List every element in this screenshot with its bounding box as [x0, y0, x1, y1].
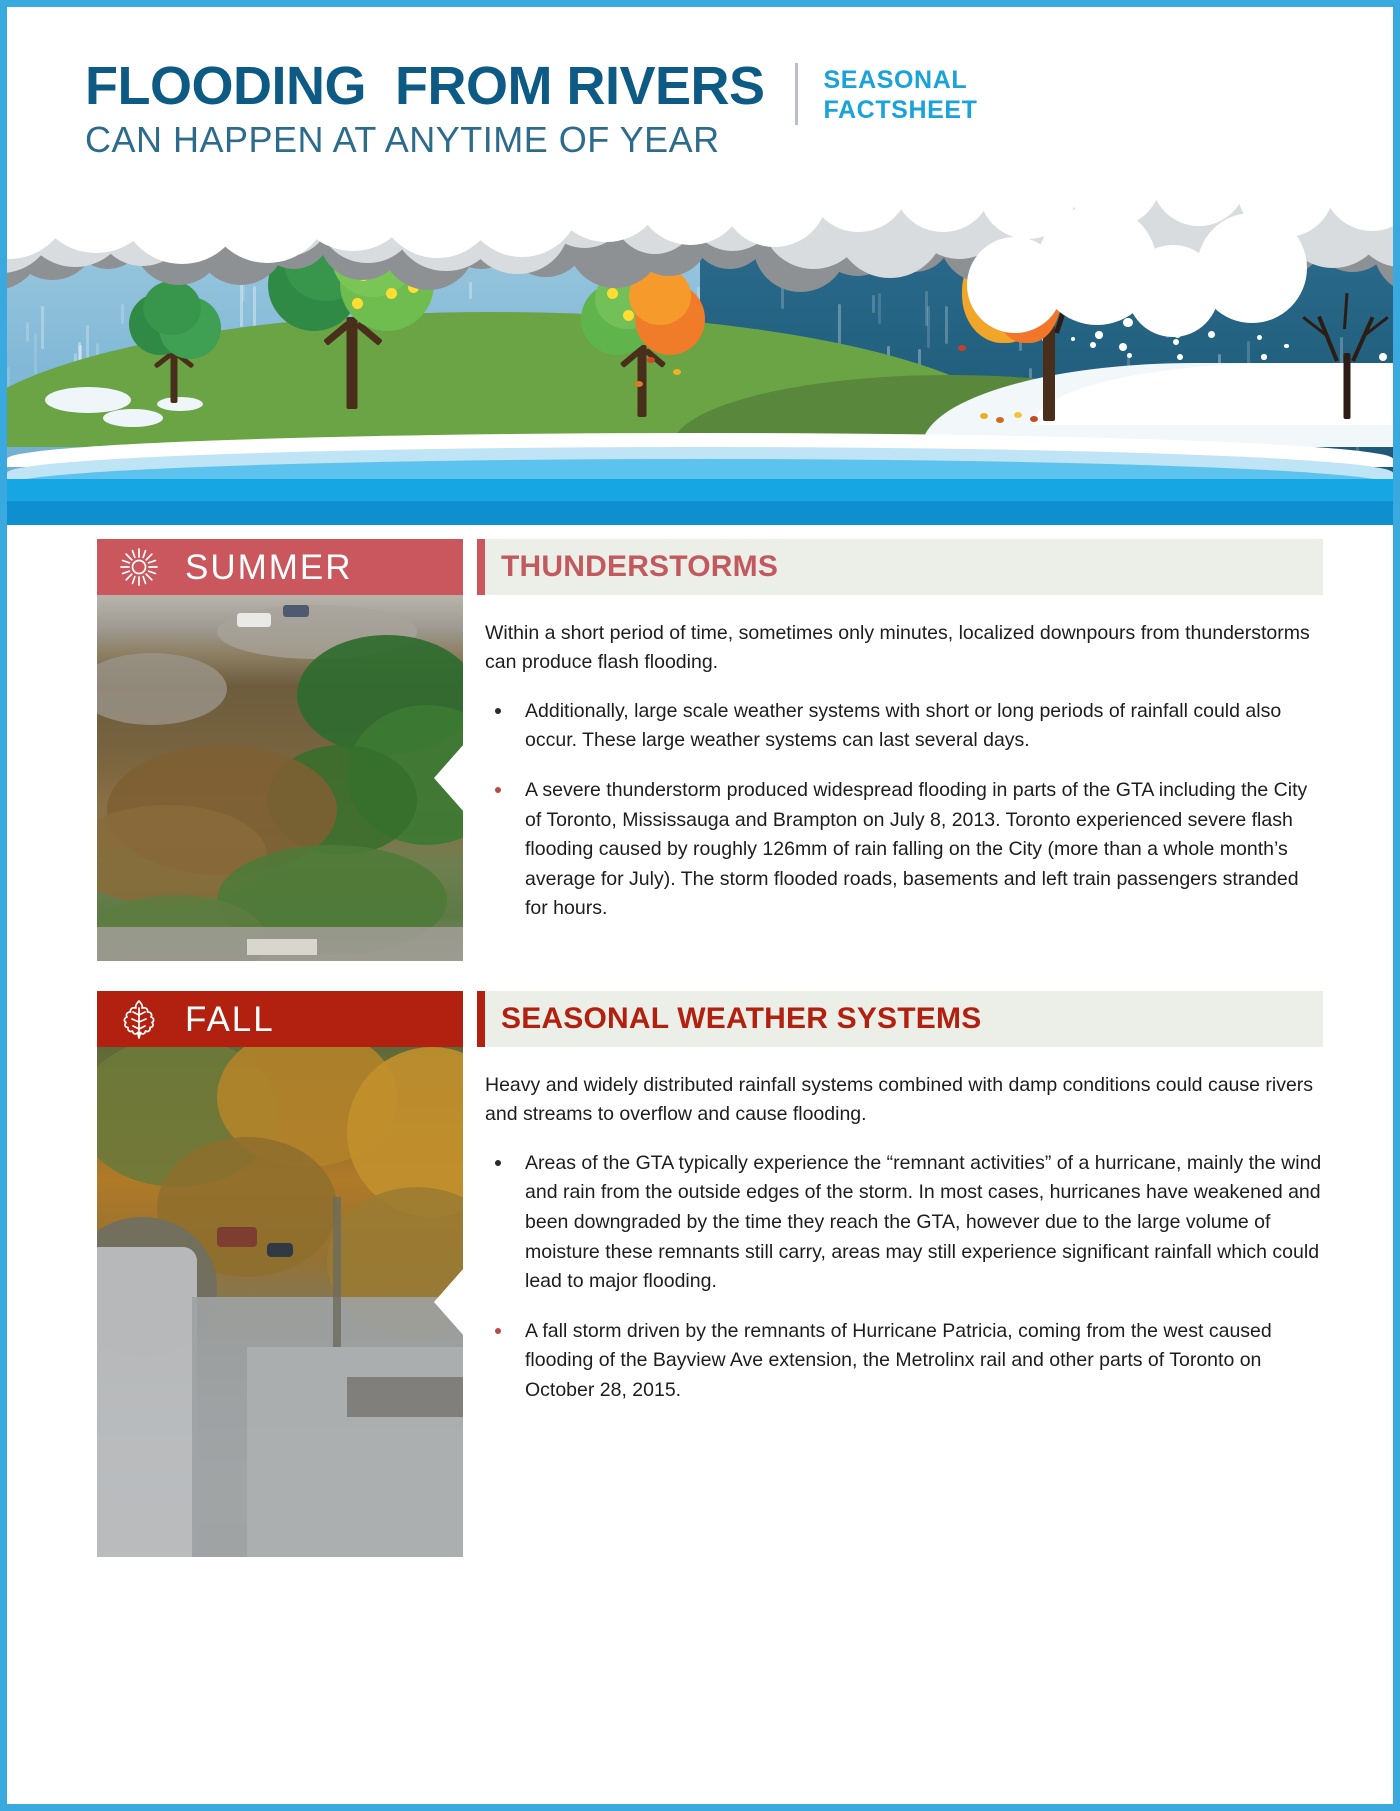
section-fall: FALL: [7, 991, 1393, 1571]
blossom: [352, 298, 363, 309]
bare-branch: [1317, 316, 1339, 362]
bullet-text: Areas of the GTA typically experience th…: [525, 1152, 1321, 1293]
tree-trunk: [1043, 325, 1055, 421]
photo-detail: [283, 605, 309, 617]
blossom: [607, 288, 618, 299]
season-label-fall: FALL: [185, 1002, 275, 1037]
bullet-marker: [495, 1160, 501, 1166]
bullet-text: Additionally, large scale weather system…: [525, 700, 1281, 752]
photo-summer-flood: [97, 595, 463, 961]
ice-patch-2: [103, 409, 163, 427]
photo-detail: [97, 1247, 197, 1557]
photo-fall-road: [97, 1047, 463, 1557]
intro-summer: Within a short period of time, sometimes…: [485, 619, 1323, 677]
heading-bar-fall: SEASONAL WEATHER SYSTEMS: [477, 991, 1323, 1047]
photo-notch: [434, 1268, 464, 1336]
title-row: FLOODING FROM RIVERS CAN HAPPEN AT ANYTI…: [85, 59, 1393, 158]
falling-leaf: [635, 381, 643, 387]
season-banner-summer: SUMMER: [97, 539, 463, 595]
photo-detail: [217, 1227, 257, 1247]
page-header: FLOODING FROM RIVERS CAN HAPPEN AT ANYTI…: [7, 7, 1393, 167]
bullets-summer: Additionally, large scale weather system…: [485, 697, 1323, 924]
bullet-item: A fall storm driven by the remnants of H…: [485, 1317, 1323, 1406]
tree-winter-bare: [1287, 269, 1393, 419]
tree-trunk: [1344, 353, 1351, 419]
bare-branch: [1351, 316, 1374, 361]
photo-detail: [237, 613, 271, 627]
factsheet-tag-line2: FACTSHEET: [824, 96, 978, 126]
river-water: [7, 433, 1393, 525]
blossom: [386, 288, 397, 299]
bullet-text: A fall storm driven by the remnants of H…: [525, 1320, 1272, 1401]
bullets-fall: Areas of the GTA typically experience th…: [485, 1149, 1323, 1406]
photo-summer-art: [97, 595, 463, 961]
photo-fall-art: [97, 1047, 463, 1557]
title-divider: [795, 63, 798, 125]
factsheet-page: FLOODING FROM RIVERS CAN HAPPEN AT ANYTI…: [0, 0, 1400, 1811]
bullet-marker: [495, 708, 501, 714]
photo-notch: [434, 744, 464, 812]
photo-detail: [97, 653, 227, 725]
photo-detail: [247, 939, 317, 955]
bullet-marker: [495, 787, 501, 793]
photo-detail: [333, 1197, 341, 1347]
leaf-pile: [996, 417, 1004, 423]
tree-foliage: [143, 281, 201, 335]
heading-bar-summer: THUNDERSTORMS: [477, 539, 1323, 595]
heading-fall: SEASONAL WEATHER SYSTEMS: [501, 1004, 981, 1034]
heading-summer: THUNDERSTORMS: [501, 552, 778, 582]
page-subtitle: CAN HAPPEN AT ANYTIME OF YEAR: [85, 122, 765, 158]
photo-detail: [347, 1377, 463, 1417]
title-block: FLOODING FROM RIVERS CAN HAPPEN AT ANYTI…: [85, 59, 765, 158]
photo-detail: [267, 1243, 293, 1257]
sections-area: SUMMER: [7, 525, 1393, 1571]
factsheet-tag-line1: SEASONAL: [824, 66, 978, 96]
leaf-pile: [1030, 416, 1038, 422]
bullet-item: Areas of the GTA typically experience th…: [485, 1149, 1323, 1297]
leaf-pile: [1014, 412, 1022, 418]
bullet-marker: [495, 1328, 501, 1334]
wave-deep-blue: [7, 501, 1393, 525]
content-fall: SEASONAL WEATHER SYSTEMS Heavy and widel…: [477, 991, 1323, 1406]
leaf-pile: [980, 413, 988, 419]
content-summer: THUNDERSTORMS Within a short period of t…: [477, 539, 1323, 924]
sun-icon: [119, 547, 159, 587]
hero-illustration: [7, 167, 1393, 525]
intro-fall: Heavy and widely distributed rainfall sy…: [485, 1071, 1323, 1129]
factsheet-tag: SEASONAL FACTSHEET: [824, 66, 978, 125]
page-title: FLOODING FROM RIVERS: [85, 59, 765, 113]
leaf-icon: [119, 998, 159, 1040]
falling-leaf: [673, 369, 681, 375]
bullet-text: A severe thunderstorm produced widesprea…: [525, 779, 1307, 920]
bare-branch: [1343, 293, 1349, 329]
bullet-item: Additionally, large scale weather system…: [485, 697, 1323, 756]
falling-leaf: [958, 345, 966, 351]
cloud-puff: [1197, 213, 1307, 323]
section-summer: SUMMER: [7, 539, 1393, 969]
blossom: [623, 310, 634, 321]
tree-trunk: [347, 317, 358, 409]
season-banner-fall: FALL: [97, 991, 463, 1047]
season-label-summer: SUMMER: [185, 550, 353, 585]
falling-leaf: [647, 357, 655, 363]
bullet-item: A severe thunderstorm produced widesprea…: [485, 776, 1323, 924]
